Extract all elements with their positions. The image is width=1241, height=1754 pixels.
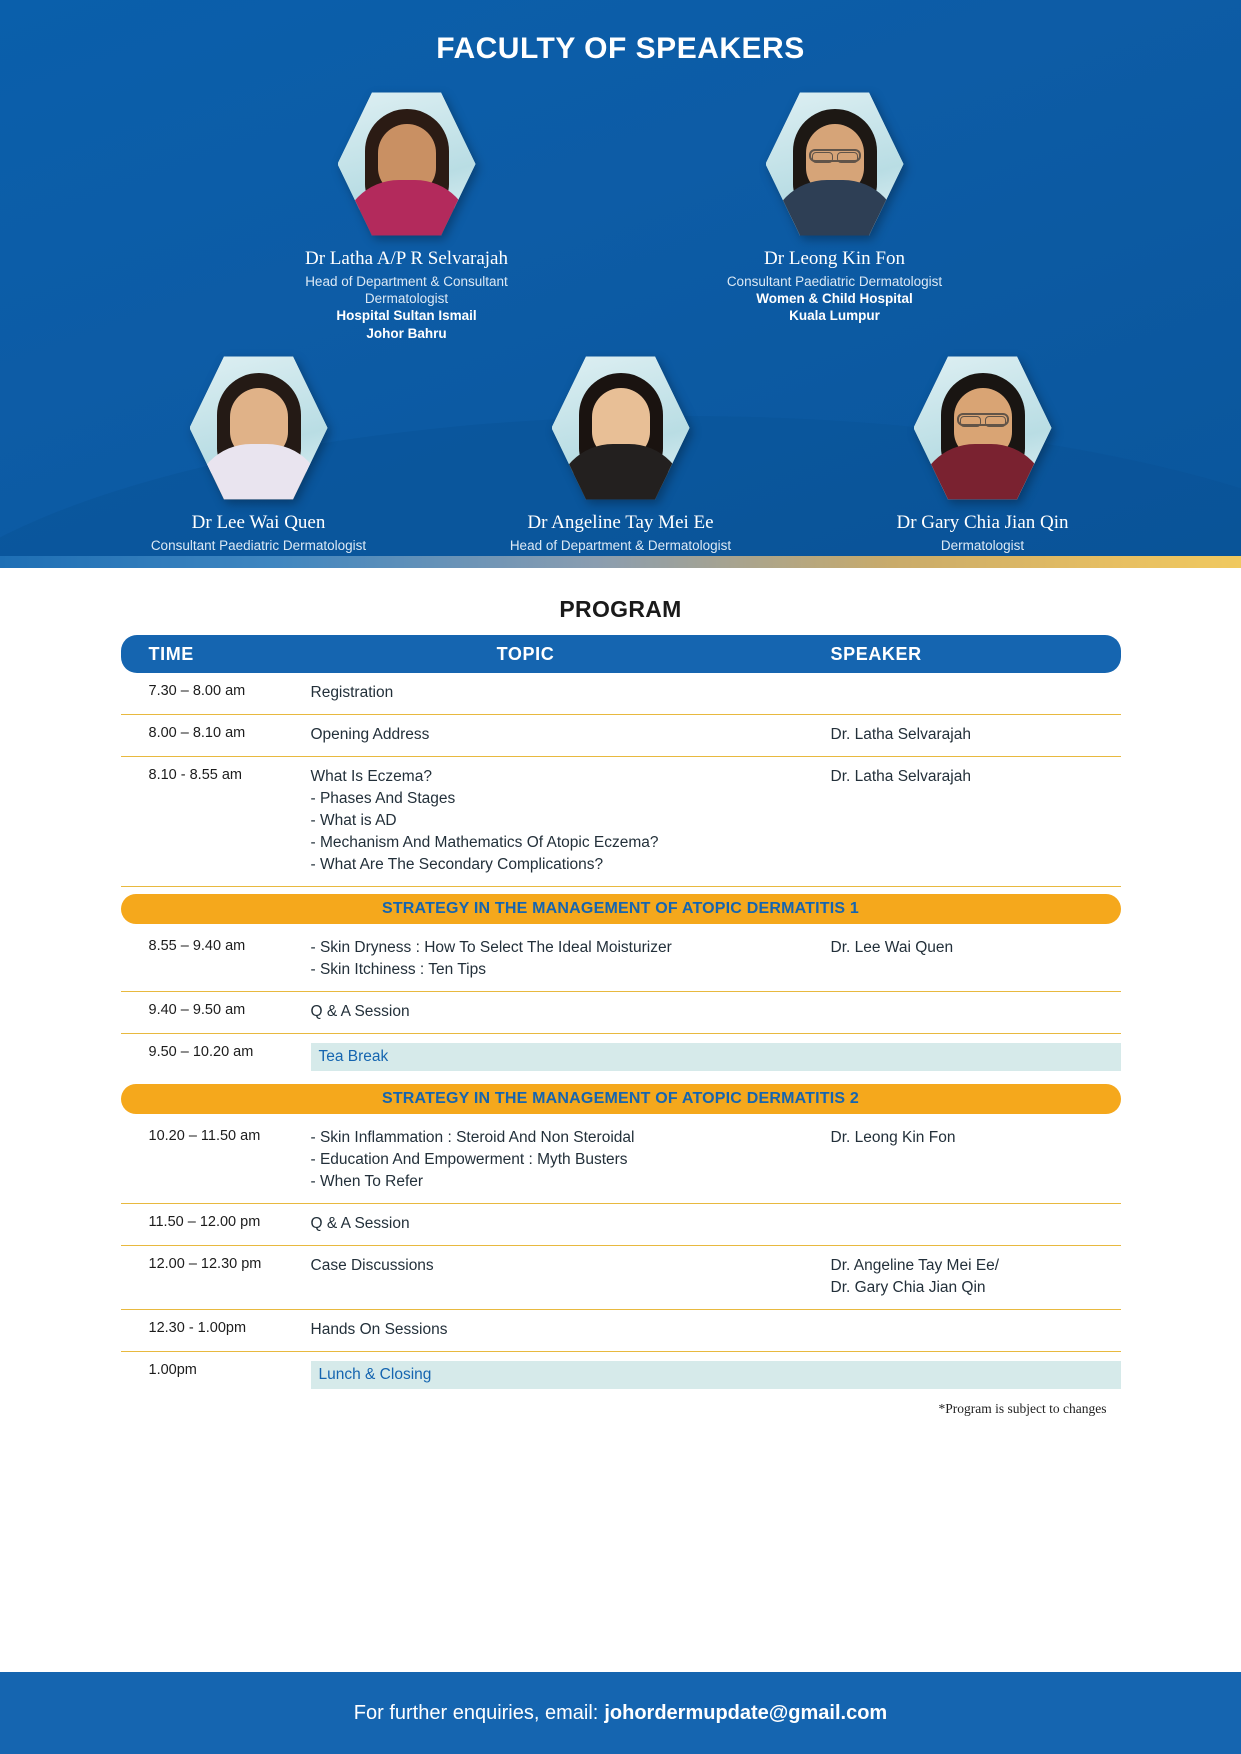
avatar: [766, 88, 904, 240]
gradient-divider: [0, 556, 1241, 568]
speaker-card-leong-kin-fon: Dr Leong Kin Fon Consultant Paediatric D…: [704, 88, 966, 342]
speaker-city: Johor Bahru: [276, 325, 538, 342]
column-header-time: TIME: [121, 644, 311, 665]
speaker-name: Dr Angeline Tay Mei Ee: [490, 512, 752, 534]
speaker-hospital: Hospital Tuanku Ja'afar: [128, 554, 390, 556]
contact-footer: For further enquiries, email: johordermu…: [0, 1672, 1241, 1754]
cell-time: 10.20 – 11.50 am: [121, 1127, 311, 1144]
speaker-city: Kuala Lumpur: [704, 307, 966, 324]
topic-line: - Education And Empowerment : Myth Buste…: [311, 1149, 831, 1171]
portrait-image: [338, 88, 476, 240]
cell-speaker: Dr. Lee Wai Quen: [831, 937, 1121, 959]
cell-speaker: Dr. Leong Kin Fon: [831, 1127, 1121, 1149]
speaker-line: Dr. Gary Chia Jian Qin: [831, 1277, 1121, 1299]
speaker-hospital: Hospital Sultan Ismail: [852, 554, 1114, 556]
table-row: 12.30 - 1.00pmHands On Sessions: [121, 1310, 1121, 1352]
program-section: PROGRAM TIME TOPIC SPEAKER 7.30 – 8.00 a…: [0, 568, 1241, 1417]
table-header-row: TIME TOPIC SPEAKER: [121, 635, 1121, 673]
speaker-row-1: Dr Latha A/P R Selvarajah Head of Depart…: [0, 88, 1241, 342]
speaker-card-lee-wai-quen: Dr Lee Wai Quen Consultant Paediatric De…: [128, 352, 390, 556]
program-footnote: *Program is subject to changes: [121, 1401, 1121, 1417]
cell-time: 7.30 – 8.00 am: [121, 682, 311, 699]
cell-topic: Q & A Session: [311, 1001, 831, 1023]
cell-time: 8.00 – 8.10 am: [121, 724, 311, 741]
contact-email[interactable]: johordermupdate@gmail.com: [604, 1702, 887, 1725]
speaker-line: Dr. Lee Wai Quen: [831, 937, 1121, 959]
cell-speaker: Dr. Latha Selvarajah: [831, 724, 1121, 746]
speaker-hospital: Hospital Sultanah Aminah: [490, 554, 752, 556]
topic-line: - Skin Itchiness : Ten Tips: [311, 959, 831, 981]
speaker-card-angeline-tay-mei-ee: Dr Angeline Tay Mei Ee Head of Departmen…: [490, 352, 752, 556]
table-row: 8.10 - 8.55 amWhat Is Eczema?- Phases An…: [121, 757, 1121, 887]
portrait-image: [914, 352, 1052, 504]
speaker-name: Dr Latha A/P R Selvarajah: [276, 248, 538, 270]
topic-line: Q & A Session: [311, 1001, 831, 1023]
table-row: 10.20 – 11.50 am- Skin Inflammation : St…: [121, 1118, 1121, 1204]
table-row: 9.40 – 9.50 amQ & A Session: [121, 992, 1121, 1034]
column-header-speaker: SPEAKER: [831, 644, 1121, 665]
cell-topic: Hands On Sessions: [311, 1319, 831, 1341]
program-title: PROGRAM: [0, 596, 1241, 623]
cell-time: 8.55 – 9.40 am: [121, 937, 311, 954]
speaker-row-2: Dr Lee Wai Quen Consultant Paediatric De…: [0, 352, 1241, 556]
speaker-hospital: Hospital Sultan Ismail: [276, 307, 538, 324]
table-row: 1.00pmLunch & Closing: [121, 1352, 1121, 1395]
portrait-image: [766, 88, 904, 240]
break-highlight: Lunch & Closing: [311, 1361, 1121, 1389]
break-highlight: Tea Break: [311, 1043, 1121, 1071]
avatar: [552, 352, 690, 504]
program-table: TIME TOPIC SPEAKER 7.30 – 8.00 amRegistr…: [121, 635, 1121, 1417]
cell-speaker: Dr. Angeline Tay Mei Ee/Dr. Gary Chia Ji…: [831, 1255, 1121, 1299]
speaker-role: Head of Department & Dermatologist: [490, 537, 752, 554]
table-row: 7.30 – 8.00 amRegistration: [121, 673, 1121, 715]
program-section-banner: STRATEGY IN THE MANAGEMENT OF ATOPIC DER…: [121, 1084, 1121, 1114]
cell-time: 12.00 – 12.30 pm: [121, 1255, 311, 1272]
speaker-name: Dr Leong Kin Fon: [704, 248, 966, 270]
faculty-of-speakers-panel: FACULTY OF SPEAKERS Dr Latha A/P R Selva…: [0, 0, 1241, 556]
cell-time: 1.00pm: [121, 1361, 311, 1378]
topic-line: What Is Eczema?: [311, 766, 831, 788]
cell-topic: Lunch & Closing: [311, 1361, 1121, 1389]
speaker-hospital: Women & Child Hospital: [704, 290, 966, 307]
topic-line: Hands On Sessions: [311, 1319, 831, 1341]
cell-topic: Tea Break: [311, 1043, 1121, 1071]
page-title: FACULTY OF SPEAKERS: [0, 0, 1241, 66]
topic-line: - What Are The Secondary Complications?: [311, 854, 831, 876]
cell-time: 12.30 - 1.00pm: [121, 1319, 311, 1336]
topic-line: - Phases And Stages: [311, 788, 831, 810]
cell-topic: What Is Eczema?- Phases And Stages- What…: [311, 766, 831, 876]
avatar: [914, 352, 1052, 504]
portrait-image: [552, 352, 690, 504]
topic-line: Opening Address: [311, 724, 831, 746]
topic-line: Case Discussions: [311, 1255, 831, 1277]
speaker-role: Consultant Paediatric Dermatologist: [128, 537, 390, 554]
avatar: [190, 352, 328, 504]
footer-text: For further enquiries, email:: [354, 1702, 599, 1725]
speaker-line: Dr. Latha Selvarajah: [831, 724, 1121, 746]
cell-speaker: Dr. Latha Selvarajah: [831, 766, 1121, 788]
speaker-name: Dr Gary Chia Jian Qin: [852, 512, 1114, 534]
topic-line: - Skin Inflammation : Steroid And Non St…: [311, 1127, 831, 1149]
topic-line: - Mechanism And Mathematics Of Atopic Ec…: [311, 832, 831, 854]
table-row: 11.50 – 12.00 pmQ & A Session: [121, 1204, 1121, 1246]
topic-line: - Skin Dryness : How To Select The Ideal…: [311, 937, 831, 959]
cell-time: 9.40 – 9.50 am: [121, 1001, 311, 1018]
cell-time: 11.50 – 12.00 pm: [121, 1213, 311, 1230]
speaker-line: Dr. Leong Kin Fon: [831, 1127, 1121, 1149]
speaker-card-gary-chia-jian-qin: Dr Gary Chia Jian Qin Dermatologist Hosp…: [852, 352, 1114, 556]
program-rows: 7.30 – 8.00 amRegistration8.00 – 8.10 am…: [121, 673, 1121, 1395]
table-row: 8.00 – 8.10 amOpening AddressDr. Latha S…: [121, 715, 1121, 757]
glasses-icon: [809, 149, 861, 162]
speaker-name: Dr Lee Wai Quen: [128, 512, 390, 534]
portrait-image: [190, 352, 328, 504]
speaker-role: Consultant Paediatric Dermatologist: [704, 273, 966, 290]
program-section-banner: STRATEGY IN THE MANAGEMENT OF ATOPIC DER…: [121, 894, 1121, 924]
topic-line: Registration: [311, 682, 831, 704]
cell-topic: - Skin Dryness : How To Select The Ideal…: [311, 937, 831, 981]
cell-time: 8.10 - 8.55 am: [121, 766, 311, 783]
table-row: 9.50 – 10.20 amTea Break: [121, 1034, 1121, 1077]
cell-topic: Case Discussions: [311, 1255, 831, 1277]
glasses-icon: [957, 413, 1009, 426]
cell-topic: Opening Address: [311, 724, 831, 746]
topic-line: - When To Refer: [311, 1171, 831, 1193]
cell-topic: Q & A Session: [311, 1213, 831, 1235]
speaker-line: Dr. Latha Selvarajah: [831, 766, 1121, 788]
speaker-card-latha-selvarajah: Dr Latha A/P R Selvarajah Head of Depart…: [276, 88, 538, 342]
cell-topic: - Skin Inflammation : Steroid And Non St…: [311, 1127, 831, 1193]
avatar: [338, 88, 476, 240]
speaker-role: Head of Department & Consultant Dermatol…: [276, 273, 538, 308]
column-header-topic: TOPIC: [311, 644, 831, 665]
speaker-line: Dr. Angeline Tay Mei Ee/: [831, 1255, 1121, 1277]
cell-topic: Registration: [311, 682, 831, 704]
topic-line: - What is AD: [311, 810, 831, 832]
cell-time: 9.50 – 10.20 am: [121, 1043, 311, 1060]
table-row: 12.00 – 12.30 pmCase DiscussionsDr. Ange…: [121, 1246, 1121, 1310]
speaker-role: Dermatologist: [852, 537, 1114, 554]
table-row: 8.55 – 9.40 am- Skin Dryness : How To Se…: [121, 928, 1121, 992]
topic-line: Q & A Session: [311, 1213, 831, 1235]
